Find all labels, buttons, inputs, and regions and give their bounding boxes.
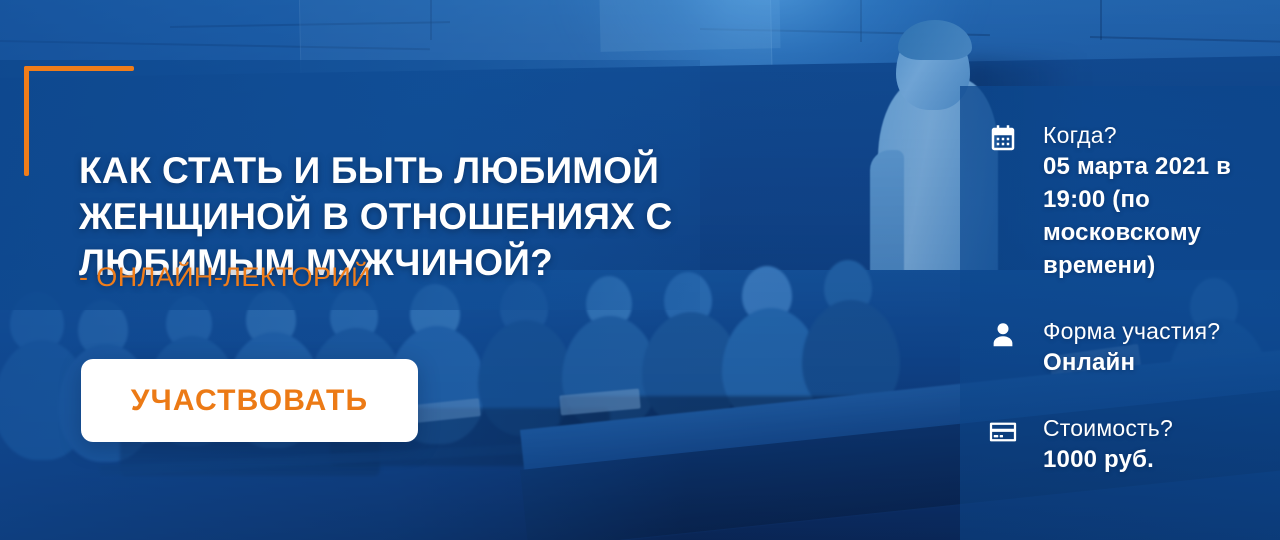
detail-question: Форма участия? — [1043, 316, 1258, 346]
banner-subtitle: - ОНЛАЙН-ЛЕКТОРИЙ — [79, 262, 371, 293]
user-icon — [988, 320, 1018, 350]
event-detail-price: Стоимость? 1000 руб. — [988, 413, 1258, 476]
bracket-vertical-line — [24, 66, 29, 176]
detail-question: Стоимость? — [1043, 413, 1258, 443]
calendar-icon — [988, 124, 1018, 154]
bracket-horizontal-line — [24, 66, 134, 71]
promo-banner: КАК СТАТЬ И БЫТЬ ЛЮБИМОЙ ЖЕНЩИНОЙ В ОТНО… — [0, 0, 1280, 540]
event-details-list: Когда? 05 марта 2021 в 19:00 (по московс… — [988, 120, 1258, 502]
detail-answer: Онлайн — [1043, 346, 1258, 379]
credit-card-icon — [988, 417, 1018, 447]
event-detail-format: Форма участия? Онлайн — [988, 316, 1258, 379]
detail-answer: 05 марта 2021 в 19:00 (по московскому вр… — [1043, 150, 1258, 282]
participate-button[interactable]: УЧАСТВОВАТЬ — [81, 359, 418, 442]
event-detail-when: Когда? 05 марта 2021 в 19:00 (по московс… — [988, 120, 1258, 282]
detail-answer: 1000 руб. — [1043, 443, 1258, 476]
detail-question: Когда? — [1043, 120, 1258, 150]
